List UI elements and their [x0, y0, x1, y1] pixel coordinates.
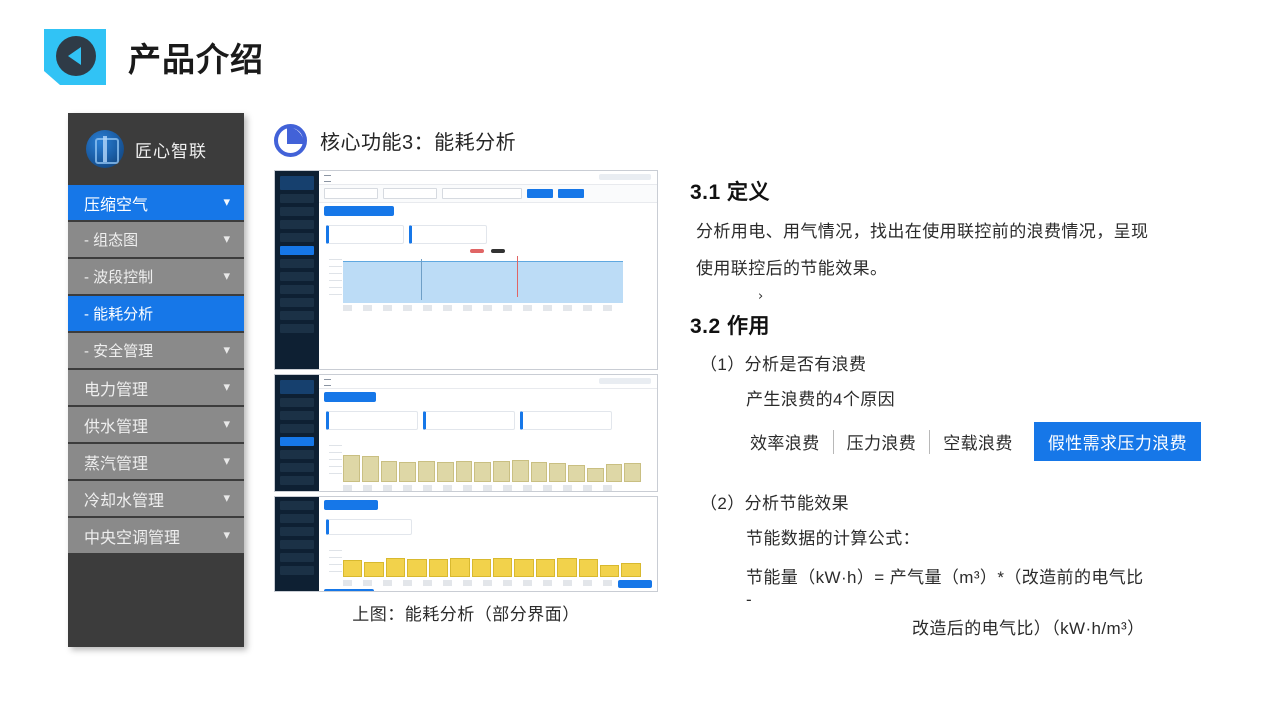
mock-kpi-card: [423, 411, 515, 430]
mock-select: [324, 188, 378, 199]
usage-heading: 3.2 作用: [690, 310, 1235, 340]
mock-sidebar: [275, 497, 319, 591]
slide-header: 产品介绍: [44, 29, 264, 85]
mock-nav-active: [280, 437, 314, 446]
mock-nav-line: [280, 476, 314, 485]
mock-action-button: [618, 580, 652, 588]
mock-filter-bar: [319, 185, 657, 203]
chevron-down-icon: ▾: [223, 528, 230, 543]
app-nav-logo: 匠心智联: [68, 113, 244, 185]
mock-nav-line: [280, 501, 314, 510]
mock-nav-line: [280, 514, 314, 523]
chevron-down-icon: ▾: [223, 417, 230, 432]
content-column: 3.1 定义 分析用电、用气情况，找出在使用联控前的浪费情况，呈现 使用联控后的…: [690, 176, 1235, 639]
chevron-down-icon: ▾: [223, 454, 230, 469]
chart-y-axis: [329, 550, 342, 578]
definition-line-1: 分析用电、用气情况，找出在使用联控前的浪费情况，呈现: [696, 216, 1235, 247]
mock-nav-active: [280, 246, 314, 255]
mock-area-chart: [327, 249, 651, 311]
sidebar-item-water-supply-management[interactable]: 供水管理 ▾: [68, 407, 244, 442]
chip-pressure-waste[interactable]: 压力浪费: [834, 429, 930, 454]
mock-kpi-card: [326, 519, 412, 535]
legend-swatch: [470, 249, 484, 253]
mock-topbar: [319, 171, 657, 185]
section-heading-label: 核心功能3：能耗分析: [320, 126, 516, 155]
mock-nav-line: [280, 540, 314, 549]
sidebar-item-band-control[interactable]: - 波段控制 ▾: [68, 259, 244, 294]
chart-x-axis: [343, 305, 623, 311]
usage-item-2-sub: 节能数据的计算公式：: [746, 524, 1235, 549]
mock-nav-line: [280, 207, 314, 216]
chevron-down-icon: ▾: [223, 343, 230, 358]
sidebar-item-label: 电力管理: [84, 376, 148, 400]
sidebar-item-energy-analysis[interactable]: - 能耗分析 ›: [68, 296, 244, 331]
mock-nav-line: [280, 194, 314, 203]
chart-area-series: [343, 261, 623, 303]
mock-select: [383, 188, 437, 199]
sidebar-item-label: - 波段控制: [84, 266, 153, 287]
mock-nav-line: [280, 272, 314, 281]
mock-kpi-card: [326, 411, 418, 430]
screenshot-panel-trend[interactable]: [274, 170, 658, 370]
usage-item-1-sub: 产生浪费的4个原因: [746, 385, 1235, 410]
definition-line-2: 使用联控后的节能效果。: [696, 253, 1235, 284]
chart-bar-series: [343, 556, 641, 577]
chevron-down-icon: ▾: [223, 269, 230, 284]
waste-reason-chip-group: 效率浪费 压力浪费 空载浪费 假性需求压力浪费: [750, 422, 1235, 461]
formula-dash: -: [746, 590, 1235, 610]
pie-chart-icon: [274, 124, 307, 157]
legend-swatch: [491, 249, 505, 253]
app-nav-panel: 匠心智联 压缩空气 ▾ - 组态图 ▾ - 波段控制 ▾ - 能耗分析 › - …: [68, 113, 244, 647]
usage-item-1: （1）分析是否有浪费: [700, 350, 1235, 375]
mock-nav-line: [280, 285, 314, 294]
chevron-down-icon: ▾: [223, 380, 230, 395]
screenshot-panel-bar-beige[interactable]: [274, 374, 658, 492]
mock-user-area: [599, 378, 651, 384]
mock-nav-line: [280, 398, 314, 407]
sidebar-item-label: 冷却水管理: [84, 487, 164, 511]
mock-section-tag: [324, 392, 376, 402]
chart-y-axis: [329, 259, 342, 303]
mock-export-button: [558, 189, 584, 198]
mock-user-area: [599, 174, 651, 180]
chart-bar-series: [343, 451, 641, 482]
sidebar-item-cooling-water-management[interactable]: 冷却水管理 ▾: [68, 481, 244, 516]
mock-nav-line: [280, 527, 314, 536]
mock-kpi-row: [319, 517, 657, 537]
header-badge: [44, 29, 106, 85]
mock-nav-line: [280, 450, 314, 459]
mock-topbar: [319, 375, 657, 389]
sidebar-item-configuration-diagram[interactable]: - 组态图 ▾: [68, 222, 244, 257]
mock-nav-line: [280, 553, 314, 562]
chart-x-axis: [343, 580, 623, 586]
usage-item-2: （2）分析节能效果: [700, 489, 1235, 514]
mock-content: [319, 171, 657, 369]
sidebar-item-label: 蒸汽管理: [84, 450, 148, 474]
mock-kpi-row: [319, 223, 657, 246]
mock-logo: [280, 380, 314, 394]
mock-content: [319, 497, 657, 591]
mock-sidebar: [275, 171, 319, 369]
triangle-glyph: [68, 47, 81, 65]
formula-line-1: 节能量（kW·h）= 产气量（m³）*（改造前的电气比: [746, 563, 1235, 588]
screenshot-stack: [274, 170, 658, 592]
mock-nav-line: [280, 411, 314, 420]
mock-kpi-row: [319, 409, 657, 432]
mock-kpi-card: [409, 225, 487, 244]
sidebar-item-steam-management[interactable]: 蒸汽管理 ▾: [68, 444, 244, 479]
sidebar-item-label: 供水管理: [84, 413, 148, 437]
mock-nav-line: [280, 566, 314, 575]
section-heading: 核心功能3：能耗分析: [274, 124, 516, 157]
sidebar-item-safety-management[interactable]: - 安全管理 ▾: [68, 333, 244, 368]
mock-nav-line: [280, 259, 314, 268]
sidebar-item-label: - 能耗分析: [84, 303, 153, 324]
mock-bar-chart: [327, 435, 651, 491]
chart-y-axis: [329, 445, 342, 483]
chart-x-axis: [343, 485, 623, 491]
screenshot-panel-bar-yellow[interactable]: [274, 496, 658, 592]
mock-kpi-card: [520, 411, 612, 430]
brand-emblem-icon: [86, 130, 124, 168]
chevron-down-icon: ▾: [223, 232, 230, 247]
mock-kpi-card: [326, 225, 404, 244]
sidebar-item-central-ac-management[interactable]: 中央空调管理 ▾: [68, 518, 244, 553]
mock-sidebar: [275, 375, 319, 491]
sidebar-item-compressed-air[interactable]: 压缩空气 ▾: [68, 185, 244, 220]
mock-nav-line: [280, 233, 314, 242]
mock-section-tag: [324, 589, 374, 592]
chevron-down-icon: ▾: [223, 491, 230, 506]
mock-section-tag: [324, 206, 394, 216]
mock-logo: [280, 176, 314, 190]
mock-nav-line: [280, 424, 314, 433]
formula-line-2: 改造后的电气比）（kW·h/m³）: [912, 614, 1235, 639]
sidebar-item-label: 中央空调管理: [84, 524, 180, 548]
page-title: 产品介绍: [128, 33, 264, 81]
play-left-triangle-icon: [56, 36, 96, 76]
mock-nav-line: [280, 298, 314, 307]
chevron-down-icon: ▾: [223, 195, 230, 210]
mock-content: [319, 375, 657, 491]
chip-idle-waste[interactable]: 空载浪费: [930, 429, 1026, 454]
slide-root: 产品介绍 匠心智联 压缩空气 ▾ - 组态图 ▾ - 波段控制 ▾ - 能耗分析…: [0, 0, 1280, 720]
chip-efficiency-waste[interactable]: 效率浪费: [750, 429, 833, 454]
mock-nav-line: [280, 463, 314, 472]
chip-false-demand-pressure-waste[interactable]: 假性需求压力浪费: [1034, 422, 1201, 461]
mock-nav-line: [280, 324, 314, 333]
mock-query-button: [527, 189, 553, 198]
sidebar-item-label: - 组态图: [84, 229, 138, 250]
definition-heading: 3.1 定义: [690, 176, 1235, 206]
sidebar-item-label: 压缩空气: [84, 191, 148, 215]
sidebar-item-power-management[interactable]: 电力管理 ▾: [68, 370, 244, 405]
sidebar-item-label: - 安全管理: [84, 340, 153, 361]
screenshot-caption: 上图：能耗分析（部分界面）: [274, 600, 658, 625]
chart-legend: [470, 249, 505, 253]
mock-bar-chart-yellow: [327, 540, 651, 586]
mock-nav-line: [280, 311, 314, 320]
mock-date-range: [442, 188, 522, 199]
mock-nav-line: [280, 220, 314, 229]
mock-section-tag: [324, 500, 378, 510]
app-nav-logo-label: 匠心智联: [135, 137, 207, 162]
